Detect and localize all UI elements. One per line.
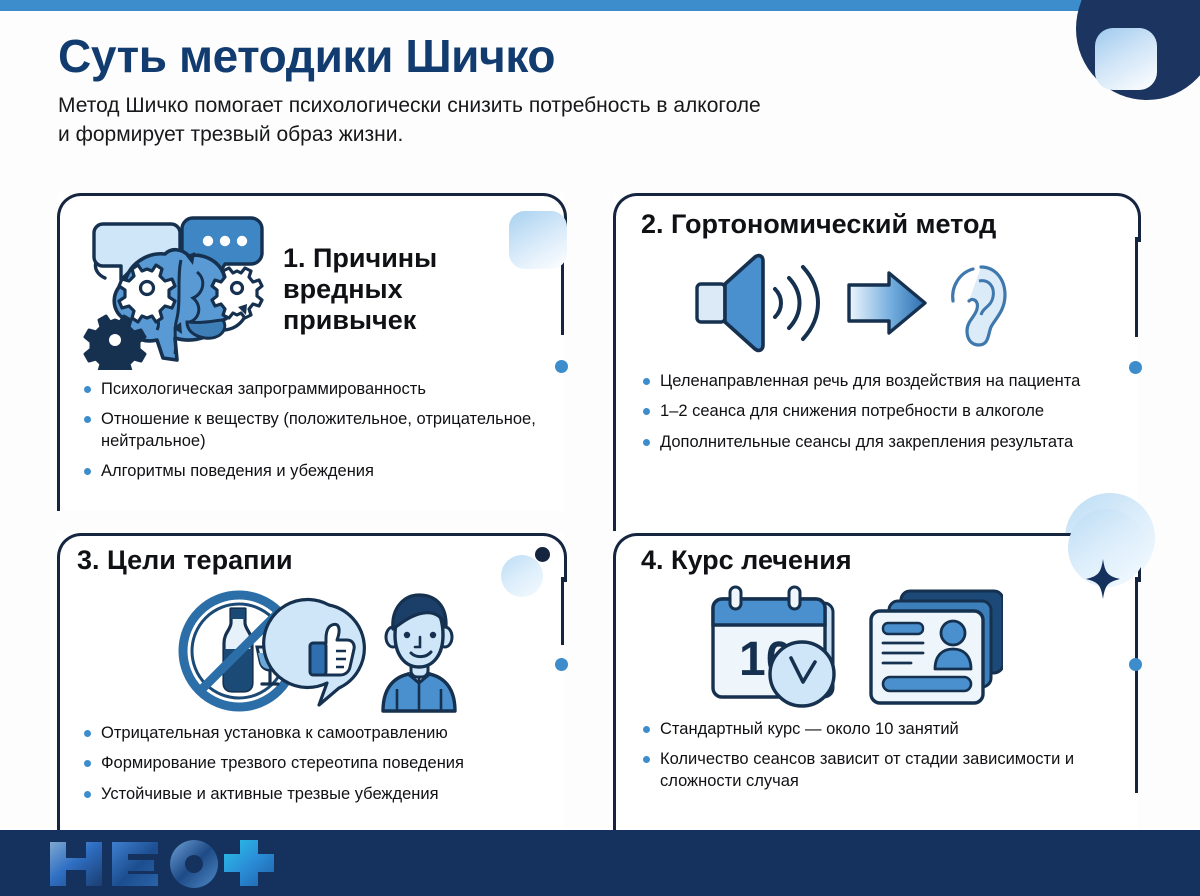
card-title: 2. Гортономический метод [641, 209, 1111, 240]
list-item: Отношение к веществу (положительное, отр… [82, 409, 542, 452]
card-therapy-goals: 3. Цели терапии [57, 533, 564, 833]
card-title: 3. Цели терапии [77, 545, 293, 576]
card-title: 4. Курс лечения [641, 545, 852, 576]
list-item: Алгоритмы поведения и убеждения [82, 461, 542, 482]
card-title: 1. Причины вредных привычек [283, 243, 513, 337]
decor-light-square [1095, 28, 1157, 90]
list-item: Дополнительные сеансы для закрепления ре… [641, 432, 1111, 453]
neo-plus-logo: НЕО+ [44, 838, 344, 890]
card-frame [613, 193, 1138, 531]
decor-dot-accent [1129, 658, 1142, 671]
card-bullet-list: Целенаправленная речь для воздействия на… [641, 371, 1111, 453]
speaker-arrow-ear-icon [693, 251, 1013, 356]
card-causes: 1. Причины вредных привычек Психологичес… [57, 193, 564, 511]
list-item: Отрицательная установка к самоотравлению [82, 723, 552, 744]
top-accent-bar [0, 0, 1200, 11]
no-alcohol-thumbsup-person-icon [177, 589, 467, 714]
list-item: Целенаправленная речь для воздействия на… [641, 371, 1111, 392]
card-treatment-course: 4. Курс лечения 10 [613, 533, 1138, 833]
decor-soft-circle [501, 555, 543, 597]
list-item: Психологическая запрограммированность [82, 379, 542, 400]
list-item: Формирование трезвого стереотипа поведен… [82, 753, 552, 774]
page-subtitle: Метод Шичко помогает психологически сниз… [58, 92, 778, 150]
list-item: 1–2 сеанса для снижения потребности в ал… [641, 401, 1111, 422]
cards-grid: 1. Причины вредных привычек Психологичес… [0, 193, 1200, 853]
sparkle-icon [1086, 559, 1120, 599]
list-item: Стандартный курс — около 10 занятий [641, 719, 1111, 740]
infographic-page: Суть методики Шичко Метод Шичко помогает… [0, 0, 1200, 896]
page-title: Суть методики Шичко [58, 32, 818, 82]
decor-dot-accent [1129, 361, 1142, 374]
decor-dot-accent [555, 658, 568, 671]
decor-dot-accent [555, 360, 568, 373]
card-bullet-list: Отрицательная установка к самоотравлению… [82, 723, 552, 805]
card-bullet-list: Психологическая запрограммированность От… [82, 379, 542, 483]
page-header: Суть методики Шичко Метод Шичко помогает… [58, 32, 818, 150]
calendar-clock-cards-icon: 10 [703, 585, 1003, 715]
card-gortonomic-method: 2. Гортономический метод [613, 193, 1138, 531]
brain-gears-speech-icon [77, 210, 277, 370]
footer-bar: НЕО+ [0, 830, 1200, 896]
card-bullet-list: Стандартный курс — около 10 занятий Коли… [641, 719, 1111, 792]
decor-dot-navy [535, 547, 550, 562]
list-item: Количество сеансов зависит от стадии зав… [641, 749, 1111, 792]
list-item: Устойчивые и активные трезвые убеждения [82, 784, 552, 805]
